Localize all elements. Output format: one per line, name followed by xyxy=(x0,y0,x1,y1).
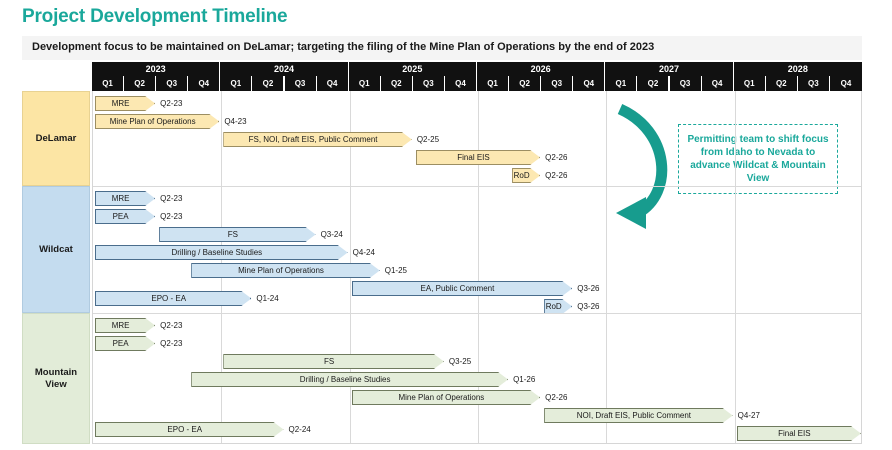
gantt-bar-label: Mine Plan of Operations xyxy=(238,266,324,275)
gantt-bar[interactable]: Mine Plan of Operations xyxy=(95,114,219,129)
quarter-header-cell: Q3 xyxy=(670,76,702,91)
gantt-bar[interactable]: MRE xyxy=(95,96,155,111)
gantt-bar-label: RoD xyxy=(546,302,562,311)
timeline-grid: Permitting team to shift focus from Idah… xyxy=(92,91,862,444)
year-header-cell: 2027 xyxy=(605,62,733,76)
gantt-milestone-label: Q2-23 xyxy=(160,318,182,333)
quarter-header-cell: Q4 xyxy=(573,76,605,91)
gantt-bar-label: MRE xyxy=(112,194,130,203)
gantt-bar[interactable]: MRE xyxy=(95,318,155,333)
gantt-milestone-label: Q2-26 xyxy=(545,168,567,183)
gantt-bar[interactable]: Mine Plan of Operations xyxy=(352,390,541,405)
gantt-milestone-label: Q2-26 xyxy=(545,390,567,405)
gantt-milestone-label: Q3-25 xyxy=(449,354,471,369)
gantt-milestone-label: Q3-26 xyxy=(577,281,599,296)
gantt-bar-label: FS, NOI, Draft EIS, Public Comment xyxy=(249,135,378,144)
year-header-cell: 2025 xyxy=(349,62,477,76)
quarter-header-cell: Q4 xyxy=(317,76,349,91)
quarter-header-cell: Q2 xyxy=(124,76,156,91)
gantt-bar[interactable]: RoD xyxy=(544,299,572,314)
project-row-label-mountain-view[interactable]: Mountain View xyxy=(22,313,90,444)
gantt-bar[interactable]: Drilling / Baseline Studies xyxy=(95,245,348,260)
gantt-bar-label: MRE xyxy=(112,99,130,108)
gantt-bar-label: PEA xyxy=(113,339,129,348)
gantt-bar[interactable]: RoD xyxy=(512,168,540,183)
quarter-header-cell: Q1 xyxy=(734,76,766,91)
gantt-milestone-label: Q3-24 xyxy=(321,227,343,242)
quarter-header-cell: Q2 xyxy=(766,76,798,91)
gantt-bar[interactable]: Final EIS xyxy=(737,426,861,441)
quarter-header-cell: Q1 xyxy=(605,76,637,91)
quarter-header-cell: Q4 xyxy=(830,76,862,91)
gantt-bar[interactable]: MRE xyxy=(95,191,155,206)
gantt-bar[interactable]: PEA xyxy=(95,209,155,224)
gantt-bar-label: Final EIS xyxy=(778,429,810,438)
subtitle-band: Development focus to be maintained on De… xyxy=(22,36,862,60)
gantt-milestone-label: Q3-26 xyxy=(577,299,599,314)
year-header-cell: 2024 xyxy=(220,62,348,76)
gantt-milestone-label: Q1-25 xyxy=(385,263,407,278)
timeline-year-header: 202320242025202620272028 xyxy=(92,62,862,76)
quarter-header-cell: Q1 xyxy=(220,76,252,91)
gantt-milestone-label: Q2-23 xyxy=(160,191,182,206)
year-gridline xyxy=(606,91,607,443)
gantt-bar[interactable]: Final EIS xyxy=(416,150,540,165)
quarter-header-cell: Q2 xyxy=(637,76,669,91)
quarter-header-cell: Q2 xyxy=(252,76,284,91)
row-separator xyxy=(93,186,861,187)
quarter-header-cell: Q3 xyxy=(798,76,830,91)
gantt-bar-label: Drilling / Baseline Studies xyxy=(300,375,391,384)
gantt-milestone-label: Q2-26 xyxy=(545,150,567,165)
quarter-header-cell: Q1 xyxy=(477,76,509,91)
quarter-header-cell: Q3 xyxy=(156,76,188,91)
quarter-header-cell: Q4 xyxy=(702,76,734,91)
gantt-milestone-label: Q2-24 xyxy=(289,422,311,437)
gantt-milestone-label: Q4-27 xyxy=(738,408,760,423)
quarter-header-cell: Q1 xyxy=(92,76,124,91)
gantt-bar[interactable]: EPO - EA xyxy=(95,422,284,437)
gantt-bar-label: FS xyxy=(228,230,238,239)
project-row-label-delamar[interactable]: DeLamar xyxy=(22,91,90,186)
gantt-milestone-label: Q2-23 xyxy=(160,336,182,351)
gantt-bar-label: EPO - EA xyxy=(167,425,202,434)
gantt-milestone-label: Q1-24 xyxy=(256,291,278,306)
year-header-cell: 2026 xyxy=(477,62,605,76)
timeline-quarter-header: Q1Q2Q3Q4Q1Q2Q3Q4Q1Q2Q3Q4Q1Q2Q3Q4Q1Q2Q3Q4… xyxy=(92,76,862,91)
gantt-bar[interactable]: FS xyxy=(159,227,315,242)
gantt-bar[interactable]: Mine Plan of Operations xyxy=(191,263,380,278)
gantt-bar[interactable]: Drilling / Baseline Studies xyxy=(191,372,508,387)
gantt-bar-label: Mine Plan of Operations xyxy=(398,393,484,402)
curved-arrow-icon xyxy=(608,101,688,231)
gantt-milestone-label: Q4-23 xyxy=(224,114,246,129)
gantt-bar[interactable]: EA, Public Comment xyxy=(352,281,573,296)
gantt-milestone-label: Q4-24 xyxy=(353,245,375,260)
gantt-bar-label: FS xyxy=(324,357,334,366)
gantt-bar-label: PEA xyxy=(113,212,129,221)
quarter-header-cell: Q2 xyxy=(509,76,541,91)
quarter-header-cell: Q2 xyxy=(381,76,413,91)
project-row-label-wildcat[interactable]: Wildcat xyxy=(22,186,90,313)
year-header-cell: 2023 xyxy=(92,62,220,76)
subtitle-text: Development focus to be maintained on De… xyxy=(32,41,654,53)
callout-box: Permitting team to shift focus from Idah… xyxy=(678,124,838,194)
gantt-bar[interactable]: FS, NOI, Draft EIS, Public Comment xyxy=(223,132,412,147)
gantt-milestone-label: Q2-25 xyxy=(417,132,439,147)
callout-text: Permitting team to shift focus from Idah… xyxy=(685,133,831,185)
quarter-header-cell: Q4 xyxy=(188,76,220,91)
row-separator xyxy=(93,313,861,314)
quarter-header-cell: Q3 xyxy=(413,76,445,91)
year-gridline xyxy=(735,91,736,443)
gantt-bar[interactable]: FS xyxy=(223,354,444,369)
gantt-bar[interactable]: NOI, Draft EIS, Public Comment xyxy=(544,408,733,423)
gantt-bar-label: EA, Public Comment xyxy=(421,284,495,293)
year-header-cell: 2028 xyxy=(734,62,862,76)
gantt-bar-label: Final EIS xyxy=(457,153,489,162)
page-title: Project Development Timeline xyxy=(22,6,287,28)
gantt-bar-label: Mine Plan of Operations xyxy=(110,117,196,126)
gantt-bar-label: EPO - EA xyxy=(151,294,186,303)
quarter-header-cell: Q3 xyxy=(541,76,573,91)
quarter-header-cell: Q1 xyxy=(349,76,381,91)
gantt-milestone-label: Q1-26 xyxy=(513,372,535,387)
quarter-header-cell: Q3 xyxy=(285,76,317,91)
gantt-bar-label: Drilling / Baseline Studies xyxy=(171,248,262,257)
gantt-chart: 202320242025202620272028 Q1Q2Q3Q4Q1Q2Q3Q… xyxy=(22,62,862,444)
gantt-bar-label: NOI, Draft EIS, Public Comment xyxy=(577,411,691,420)
gantt-bar-label: RoD xyxy=(514,171,530,180)
gantt-bar[interactable]: PEA xyxy=(95,336,155,351)
gantt-bar-label: MRE xyxy=(112,321,130,330)
gantt-milestone-label: Q2-23 xyxy=(160,209,182,224)
gantt-milestone-label: Q2-23 xyxy=(160,96,182,111)
gantt-bar[interactable]: EPO - EA xyxy=(95,291,251,306)
quarter-header-cell: Q4 xyxy=(445,76,477,91)
